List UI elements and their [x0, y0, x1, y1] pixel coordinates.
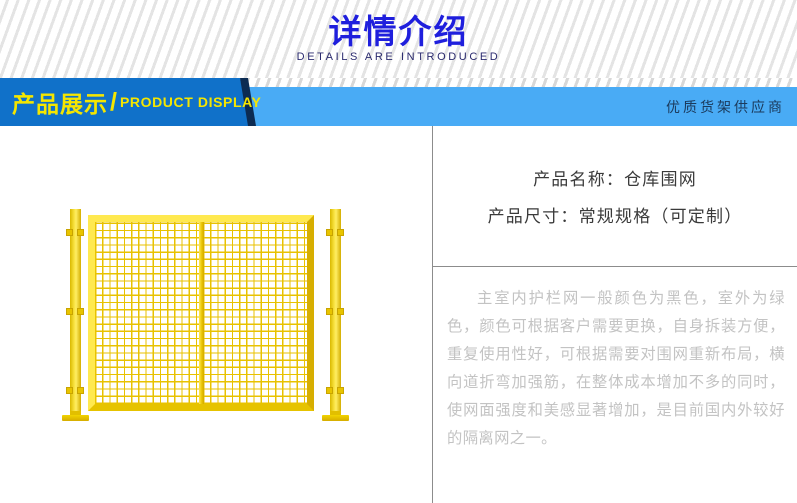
fence-bracket-tab — [337, 229, 344, 236]
page-title: 详情介绍 — [329, 15, 469, 50]
fence-base-plate-left — [62, 415, 89, 421]
wire-mesh-fence-image — [62, 201, 352, 453]
section-tag-label-en: PRODUCT DISPLAY — [120, 94, 262, 110]
product-name-line: 产品名称：仓库围网 — [533, 165, 697, 190]
fence-bracket-tab — [66, 308, 73, 315]
section-tag-separator: / — [110, 88, 117, 117]
fence-bracket-tab — [326, 229, 333, 236]
section-bar-right-group: 优质货架供应商 — [666, 87, 785, 126]
section-bar: 产品展示 / PRODUCT DISPLAY 优质货架供应商 — [0, 78, 797, 126]
fence-bracket-tab — [337, 387, 344, 394]
spec-summary-group: 产品名称：仓库围网 产品尺寸：常规规格（可定制） — [433, 126, 797, 266]
fence-bracket-tab — [77, 229, 84, 236]
page-header: 详情介绍 DETAILS ARE INTRODUCED — [0, 0, 797, 78]
fence-bracket-tab — [77, 308, 84, 315]
supplier-slogan: 优质货架供应商 — [666, 97, 785, 117]
fence-bracket-tab — [66, 387, 73, 394]
fence-bracket-tab — [77, 387, 84, 394]
fence-mesh-panel — [88, 215, 314, 411]
fence-center-divider — [199, 222, 204, 404]
content-area: 产品名称：仓库围网 产品尺寸：常规规格（可定制） 主室内护栏网一般颜色为黑色，室… — [0, 126, 797, 503]
spec-divider — [433, 266, 797, 267]
fence-base-plate-right — [322, 415, 349, 421]
fence-bracket-tab — [66, 229, 73, 236]
page-subtitle: DETAILS ARE INTRODUCED — [297, 51, 501, 63]
fence-bracket-tab — [337, 308, 344, 315]
fence-bracket-tab — [326, 308, 333, 315]
fence-bracket-tab — [326, 387, 333, 394]
section-tag-label-cn: 产品展示 — [12, 85, 108, 119]
product-description: 主室内护栏网一般颜色为黑色，室外为绿色，颜色可根据客户需要更换，自身拆装方便，重… — [447, 284, 785, 452]
product-size-line: 产品尺寸：常规规格（可定制） — [488, 202, 743, 227]
header-title-group: 详情介绍 DETAILS ARE INTRODUCED — [0, 0, 797, 78]
section-bar-label-group: 产品展示 / PRODUCT DISPLAY — [12, 78, 261, 126]
product-spec-pane: 产品名称：仓库围网 产品尺寸：常规规格（可定制） 主室内护栏网一般颜色为黑色，室… — [432, 126, 797, 503]
product-photo-pane — [0, 126, 432, 503]
